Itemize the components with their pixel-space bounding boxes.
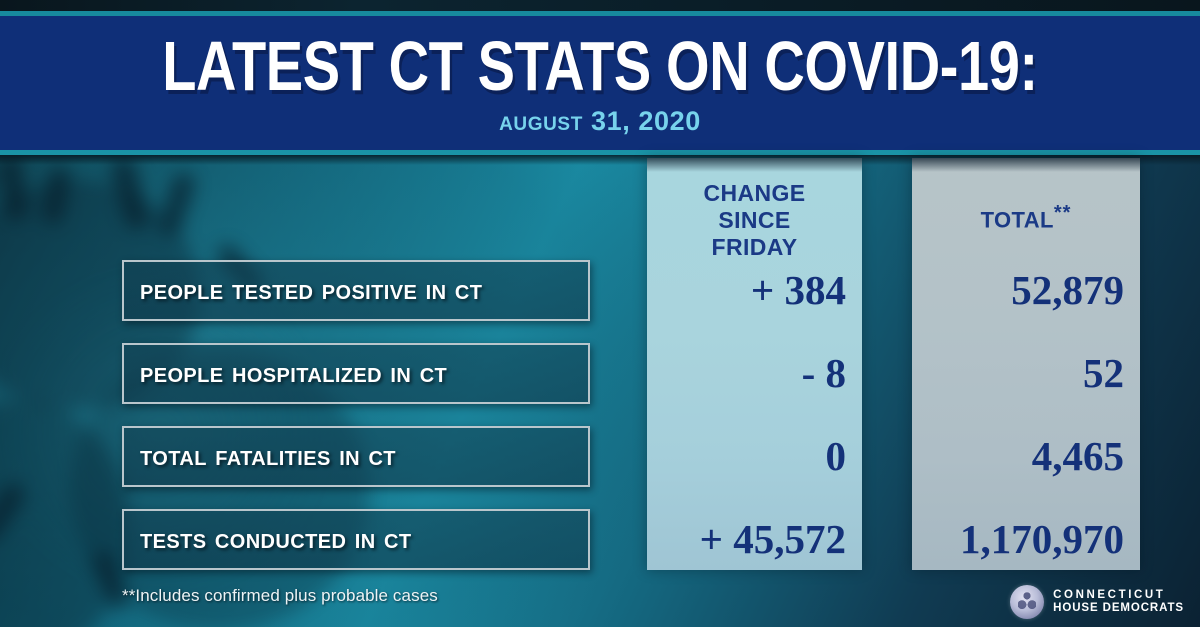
covid-stats-infographic: LATEST CT STATS ON COVID-19: August 31, … xyxy=(0,0,1200,627)
stat-change-value: 0 xyxy=(647,426,846,487)
stat-label: Tests Conducted In CT xyxy=(124,523,411,556)
stat-label-box: People Tested Positive In CT xyxy=(122,260,590,321)
stat-label: People Hospitalized In CT xyxy=(124,357,447,390)
table-row: People Hospitalized In CT - 8 52 xyxy=(0,343,1200,404)
stat-label-box: Total Fatalities In CT xyxy=(122,426,590,487)
table-row: Total Fatalities In CT 0 4,465 xyxy=(0,426,1200,487)
stat-total-value: 1,170,970 xyxy=(912,509,1124,570)
stat-change-value: - 8 xyxy=(647,343,846,404)
stat-change-value: + 45,572 xyxy=(647,509,846,570)
stats-rows: People Tested Positive In CT + 384 52,87… xyxy=(0,0,1200,627)
table-row: People Tested Positive In CT + 384 52,87… xyxy=(0,260,1200,321)
stat-label: People Tested Positive In CT xyxy=(124,274,482,307)
logo-line-house-democrats: HOUSE DEMOCRATS xyxy=(1053,602,1184,615)
stat-label-box: Tests Conducted In CT xyxy=(122,509,590,570)
logo-text: CONNECTICUT HOUSE DEMOCRATS xyxy=(1053,589,1184,616)
table-row: Tests Conducted In CT + 45,572 1,170,970 xyxy=(0,509,1200,570)
state-seal-icon xyxy=(1010,585,1044,619)
stat-total-value: 52 xyxy=(912,343,1124,404)
stat-total-value: 52,879 xyxy=(912,260,1124,321)
stat-label: Total Fatalities In CT xyxy=(124,440,396,473)
stat-label-box: People Hospitalized In CT xyxy=(122,343,590,404)
connecticut-house-democrats-logo: CONNECTICUT HOUSE DEMOCRATS xyxy=(1002,580,1192,624)
footnote: **Includes confirmed plus probable cases xyxy=(122,586,438,606)
logo-line-connecticut: CONNECTICUT xyxy=(1053,589,1184,602)
stat-change-value: + 384 xyxy=(647,260,846,321)
stat-total-value: 4,465 xyxy=(912,426,1124,487)
